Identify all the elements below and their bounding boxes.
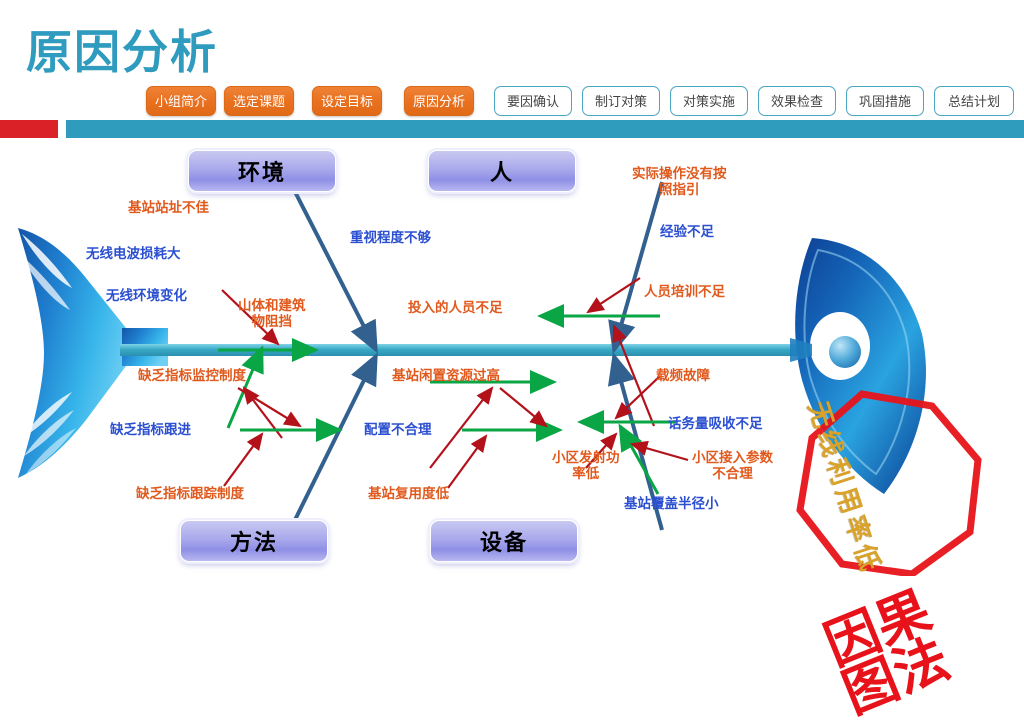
- category-box-people[interactable]: 人: [428, 150, 576, 192]
- cause-people-procedure: 实际操作没有按 照指引: [632, 166, 727, 198]
- nav-item-5[interactable]: 制订对策: [582, 86, 660, 116]
- cause-env-block-line2: 物阻挡: [238, 314, 306, 330]
- cause-env-site: 基站站址不佳: [128, 200, 209, 216]
- category-label-people: 人: [490, 155, 514, 187]
- cause-method-monitor: 缺乏指标监控制度: [138, 368, 246, 384]
- red-arrow-equip-1: [500, 388, 546, 426]
- fish-eye-pupil: [829, 336, 861, 368]
- green-bone-equip-sub2: [620, 426, 658, 494]
- nav-item-7[interactable]: 效果检查: [758, 86, 836, 116]
- nav-item-1[interactable]: 选定课题: [224, 86, 294, 116]
- nav-item-0[interactable]: 小组简介: [146, 86, 216, 116]
- cause-equip-traffic: 话务量吸收不足: [668, 416, 763, 432]
- cause-env-block-line1: 山体和建筑: [238, 298, 306, 314]
- fishbone-diagram: 环境 人 方法 设备 基站站址不佳 无线电波损耗大 无线环境变化 山体和建筑 物…: [0, 138, 1024, 576]
- cause-equip-tx-power-line1: 小区发射功: [552, 450, 620, 466]
- page-title: 原因分析: [26, 16, 218, 82]
- process-nav-bar: 小组简介 选定课题 设定目标 原因分析 要因确认 制订对策 对策实施 效果检查 …: [0, 86, 1024, 120]
- cause-env-pathloss: 无线电波损耗大: [86, 246, 181, 262]
- category-box-environment[interactable]: 环境: [188, 150, 336, 192]
- cause-people-procedure-line2: 照指引: [632, 182, 727, 198]
- cause-equip-access-param: 小区接入参数 不合理: [692, 450, 773, 482]
- category-label-environment: 环境: [238, 155, 286, 187]
- nav-item-4[interactable]: 要因确认: [494, 86, 572, 116]
- cause-people-training: 人员培训不足: [644, 284, 725, 300]
- bone-people: [614, 182, 662, 350]
- cause-people-staffing: 投入的人员不足: [408, 300, 503, 316]
- category-label-method: 方法: [230, 525, 278, 557]
- category-box-equipment[interactable]: 设备: [430, 520, 578, 562]
- cause-env-change: 无线环境变化: [106, 288, 187, 304]
- category-box-method[interactable]: 方法: [180, 520, 328, 562]
- slide-canvas: 原因分析 小组简介 选定课题 设定目标 原因分析 要因确认 制订对策 对策实施 …: [0, 0, 1024, 576]
- red-arrow-equip-2: [448, 436, 486, 488]
- cause-equip-reuse: 基站复用度低: [368, 486, 449, 502]
- nav-item-8[interactable]: 巩固措施: [846, 86, 924, 116]
- cause-equip-config: 配置不合理: [364, 422, 432, 438]
- cause-people-experience: 经验不足: [660, 224, 714, 240]
- seal-stamp-line2: 图法: [829, 615, 959, 728]
- cause-env-block: 山体和建筑 物阻挡: [238, 298, 306, 330]
- red-arrow-method-2: [224, 434, 262, 486]
- cause-equip-tx-power-line2: 率低: [552, 466, 620, 482]
- red-arrow-people-2: [588, 278, 640, 312]
- header-red-block: [0, 120, 58, 138]
- cause-equip-idle: 基站闲置资源过高: [392, 368, 500, 384]
- nav-item-3[interactable]: 原因分析: [404, 86, 474, 116]
- cause-equip-access-param-line1: 小区接入参数: [692, 450, 773, 466]
- nav-item-9[interactable]: 总结计划: [934, 86, 1014, 116]
- cause-equip-coverage: 基站覆盖半径小: [624, 496, 719, 512]
- cause-people-procedure-line1: 实际操作没有按: [632, 166, 727, 182]
- category-label-equipment: 设备: [480, 525, 528, 557]
- cause-method-followup: 缺乏指标跟进: [110, 422, 191, 438]
- nav-item-6[interactable]: 对策实施: [670, 86, 748, 116]
- red-arrow-people-1: [430, 388, 492, 468]
- bone-method: [290, 356, 376, 530]
- seal-stamp-line1: 因果: [811, 567, 941, 681]
- cause-people-attention: 重视程度不够: [350, 230, 431, 246]
- nav-item-2[interactable]: 设定目标: [312, 86, 382, 116]
- header-teal-bar: [66, 120, 1024, 138]
- cause-equip-access-param-line2: 不合理: [692, 466, 773, 482]
- cause-equip-tx-power: 小区发射功 率低: [552, 450, 620, 482]
- cause-method-tracking: 缺乏指标跟踪制度: [136, 486, 244, 502]
- cause-equip-carrier: 载频故障: [656, 368, 710, 384]
